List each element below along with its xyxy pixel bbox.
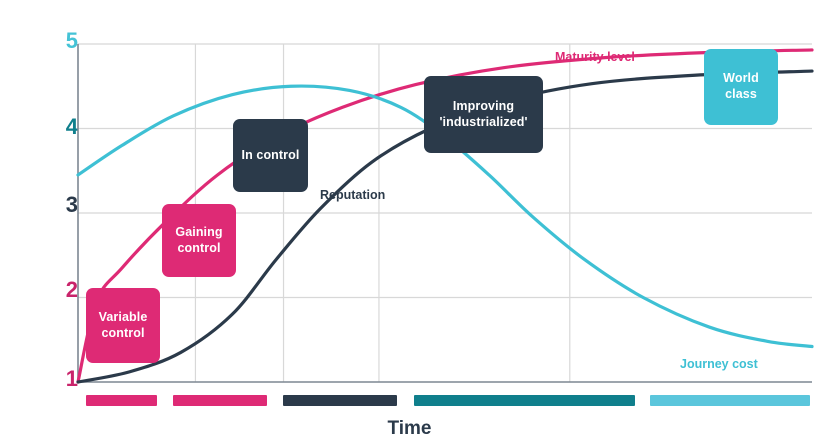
- legend-bar-improving[interactable]: [414, 395, 635, 406]
- stage-box-improving-industrialized[interactable]: Improving'industrialized': [424, 76, 543, 153]
- stage-box-label: In control: [242, 148, 300, 164]
- series-label-reputation: Reputation: [320, 188, 385, 202]
- legend-bar-gaining-control[interactable]: [173, 395, 267, 406]
- series-label-journey-cost: Journey cost: [680, 357, 758, 371]
- stage-box-variable-control[interactable]: Variablecontrol: [86, 288, 160, 363]
- stage-box-world-class[interactable]: Worldclass: [704, 49, 778, 125]
- stage-box-in-control[interactable]: In control: [233, 119, 308, 192]
- legend-bar-variable-control[interactable]: [86, 395, 157, 406]
- series-label-maturity-level: Maturity level: [555, 50, 635, 64]
- plot-area: [0, 0, 819, 446]
- stage-box-label: Worldclass: [723, 71, 759, 102]
- stage-box-label: Improving'industrialized': [439, 99, 527, 130]
- stage-box-label: Gainingcontrol: [175, 225, 222, 256]
- stage-box-label: Variablecontrol: [99, 310, 148, 341]
- legend-bar-world-class[interactable]: [650, 395, 810, 406]
- legend-bar-in-control[interactable]: [283, 395, 397, 406]
- chart-root: Quality & operations maturity level Time…: [0, 0, 819, 446]
- stage-box-gaining-control[interactable]: Gainingcontrol: [162, 204, 236, 277]
